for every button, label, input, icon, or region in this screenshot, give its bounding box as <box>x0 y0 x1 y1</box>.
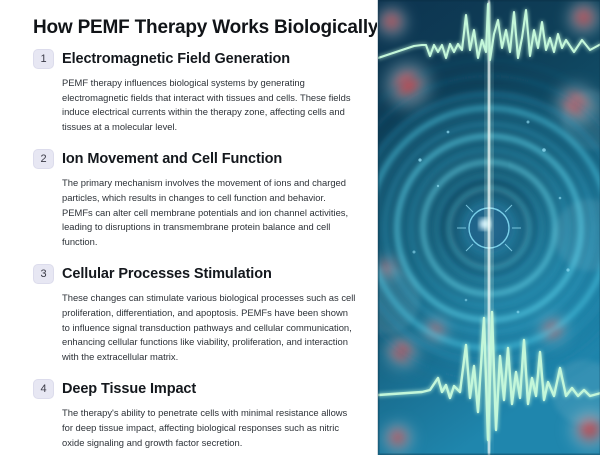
step-badge-2: 2 <box>33 149 54 169</box>
section-heading-3: Cellular Processes Stimulation <box>62 265 272 283</box>
section-body-4: The therapy's ability to penetrate cells… <box>62 406 357 450</box>
section-heading-4: Deep Tissue Impact <box>62 380 196 398</box>
section-header: 1 Electromagnetic Field Generation <box>33 48 357 70</box>
step-badge-4: 4 <box>33 379 54 399</box>
content-column: How PEMF Therapy Works Biologically 1 El… <box>0 0 377 455</box>
section-ion-movement-and-cell-function: 2 Ion Movement and Cell Function The pri… <box>33 148 357 249</box>
page-title: How PEMF Therapy Works Biologically <box>33 16 357 40</box>
section-header: 3 Cellular Processes Stimulation <box>33 263 357 285</box>
section-heading-1: Electromagnetic Field Generation <box>62 50 290 68</box>
section-cellular-processes-stimulation: 3 Cellular Processes Stimulation These c… <box>33 263 357 364</box>
section-header: 2 Ion Movement and Cell Function <box>33 148 357 170</box>
pemf-visualization-image <box>377 0 600 455</box>
step-badge-3: 3 <box>33 264 54 284</box>
section-body-1: PEMF therapy influences biological syste… <box>62 76 357 134</box>
section-header: 4 Deep Tissue Impact <box>33 378 357 400</box>
section-body-3: These changes can stimulate various biol… <box>62 291 357 364</box>
section-deep-tissue-impact: 4 Deep Tissue Impact The therapy's abili… <box>33 378 357 450</box>
section-body-2: The primary mechanism involves the movem… <box>62 176 357 249</box>
step-badge-1: 1 <box>33 49 54 69</box>
section-heading-2: Ion Movement and Cell Function <box>62 150 282 168</box>
section-electromagnetic-field-generation: 1 Electromagnetic Field Generation PEMF … <box>33 48 357 134</box>
artwork-svg <box>378 0 600 455</box>
pemf-info-card: How PEMF Therapy Works Biologically 1 El… <box>0 0 600 455</box>
